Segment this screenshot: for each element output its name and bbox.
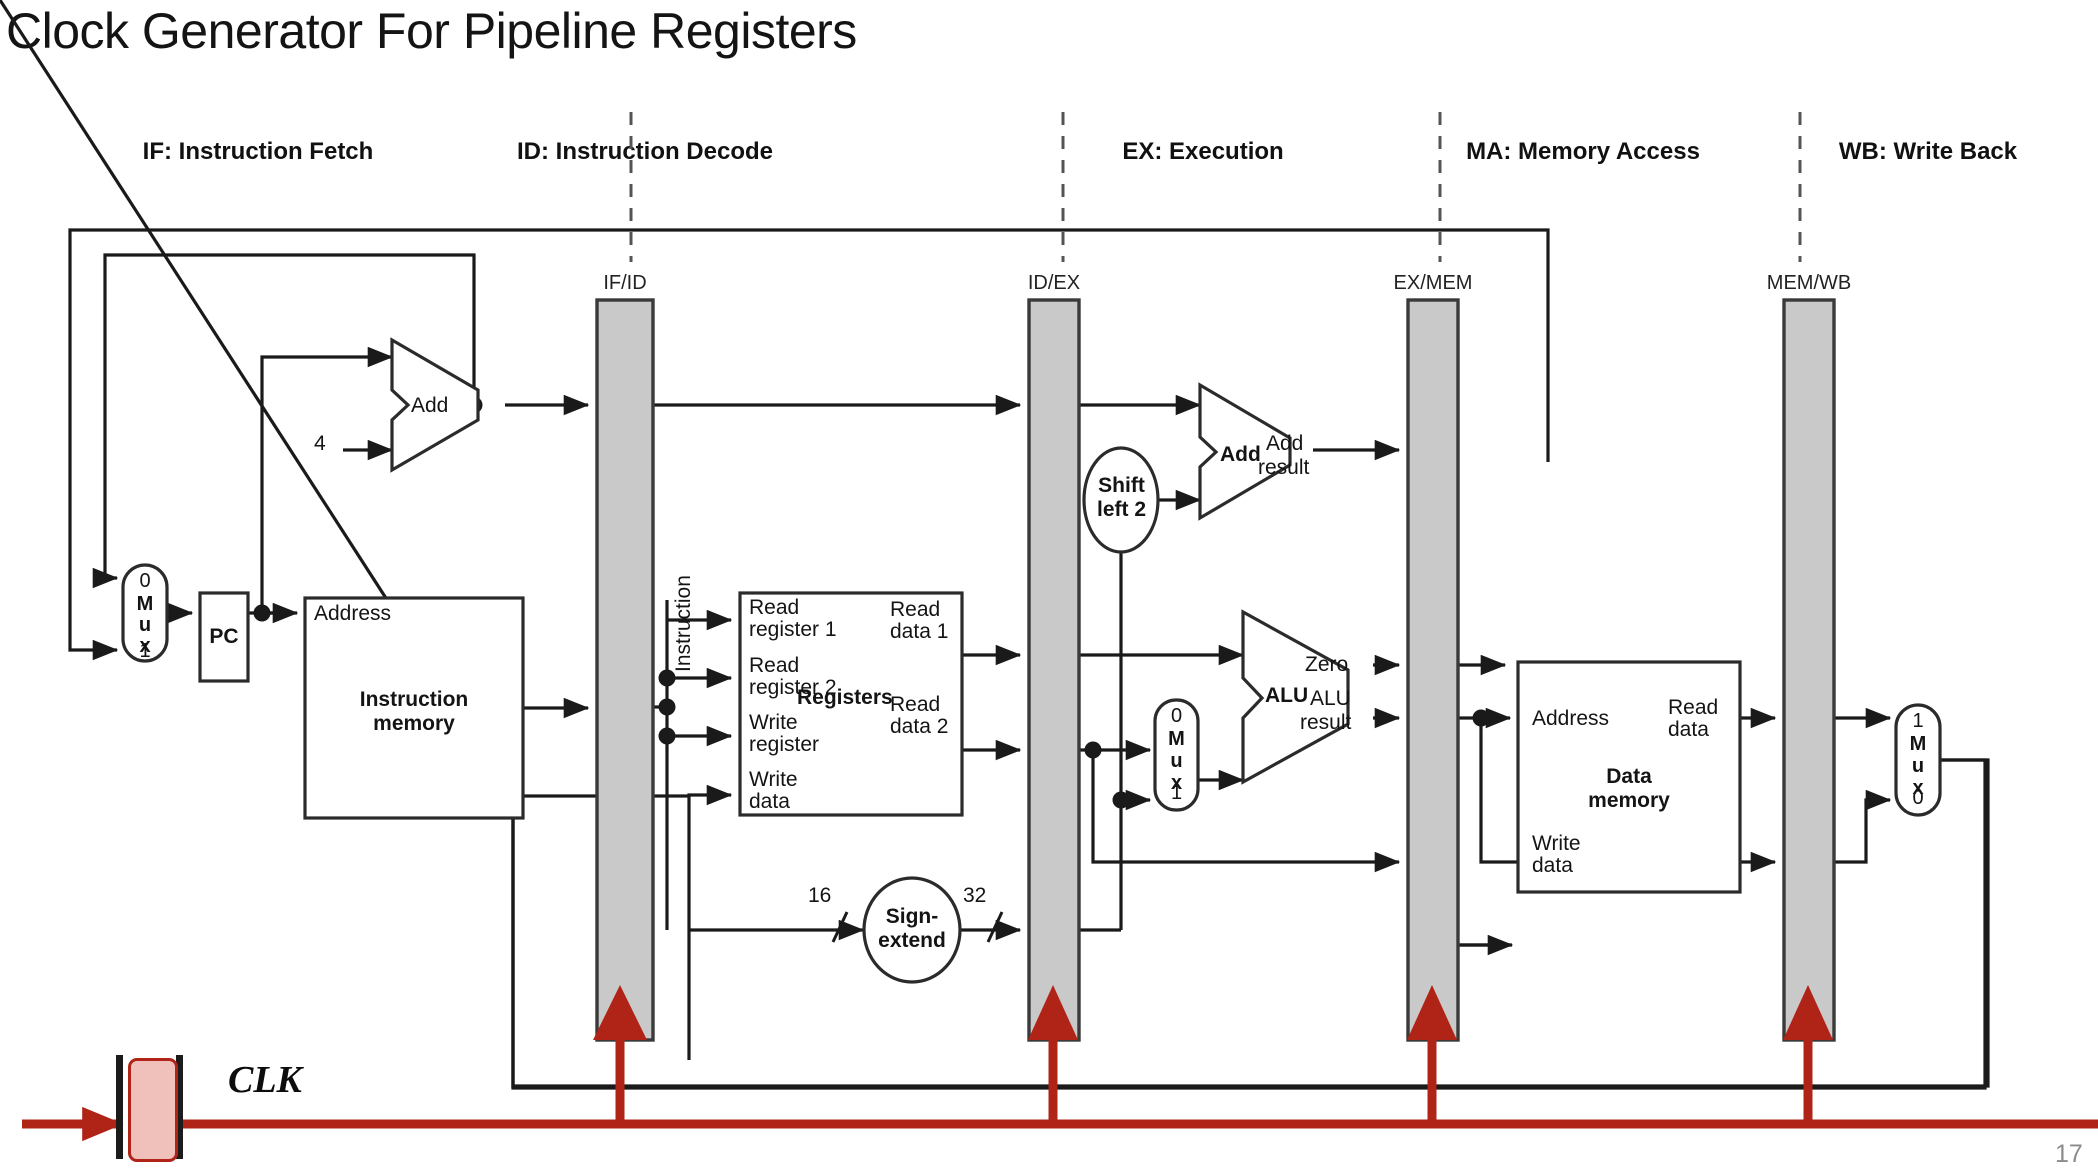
instruction-memory-title-line2: memory: [305, 712, 523, 736]
alu-add-ex-result-l2: result: [1258, 456, 1309, 480]
sign-extend-label-line1: Sign-: [864, 905, 960, 929]
alu-add-ex-result-l1: Add: [1266, 432, 1303, 456]
registers-read-data-2-l1: Read: [890, 693, 940, 717]
pc-label: PC: [200, 625, 248, 649]
pc-mux-letter-u: u: [123, 614, 167, 637]
registers-write-register-l2: register: [749, 733, 819, 757]
registers-write-data-l2: data: [749, 790, 790, 814]
sign-extend-label-line2: extend: [864, 929, 960, 953]
instruction-memory-title-line1: Instruction: [305, 688, 523, 712]
registers-write-register-l1: Write: [749, 711, 798, 735]
data-memory-read-data-l2: data: [1668, 718, 1709, 742]
data-memory-write-data-l2: data: [1532, 854, 1573, 878]
alu-src-mux-letter-u: u: [1155, 750, 1198, 773]
alu-src-mux-letter-m: M: [1155, 728, 1198, 751]
clock-feed-arrowhead: [593, 985, 1833, 1040]
instruction-bus-label: Instruction: [672, 575, 696, 672]
alu-add-ex-label: Add: [1220, 443, 1261, 467]
registers-read-data-1-l2: data 1: [890, 620, 948, 644]
clock-signal-label: CLK: [228, 1058, 302, 1102]
alu-zero-output-label: Zero: [1305, 653, 1348, 677]
alu-add-if-label: Add: [411, 394, 448, 418]
alu-result-output-l1: ALU: [1310, 687, 1351, 711]
registers-read-register-1-l1: Read: [749, 596, 799, 620]
shift-left-2-label-line1: Shift: [1084, 474, 1159, 498]
registers-read-data-2-l2: data 2: [890, 715, 948, 739]
alu-result-output-l2: result: [1300, 711, 1351, 735]
data-memory-read-data-l1: Read: [1668, 696, 1718, 720]
registers-read-register-1-l2: register 1: [749, 618, 837, 642]
data-memory-title-line1: Data: [1518, 765, 1740, 789]
pc-mux-select-top: 0: [123, 570, 167, 593]
wb-mux-letter-u: u: [1896, 755, 1940, 778]
alu-src-mux-select-top: 0: [1155, 705, 1198, 728]
pc-mux-select-bottom: 1: [123, 640, 167, 663]
alu-src-mux-select-bottom: 1: [1155, 782, 1198, 805]
instruction-memory-address-port: Address: [314, 602, 391, 626]
constant-four-label: 4: [314, 432, 326, 456]
registers-write-data-l1: Write: [749, 768, 798, 792]
data-memory-title-line2: memory: [1518, 789, 1740, 813]
pipeline-datapath-diagram: [0, 0, 2098, 1168]
wb-mux-select-top: 1: [1896, 710, 1940, 733]
clock-generator-left-bar: [116, 1055, 123, 1159]
registers-read-register-2-l1: Read: [749, 654, 799, 678]
registers-title: Registers: [797, 686, 893, 710]
page-number: 17: [2055, 1140, 2083, 1169]
registers-read-data-1-l1: Read: [890, 598, 940, 622]
bus-width-label-16: 16: [808, 884, 831, 908]
bus-width-label-32: 32: [963, 884, 986, 908]
data-memory-address-port: Address: [1532, 707, 1609, 731]
clock-generator-box[interactable]: [128, 1058, 178, 1162]
pc-mux-letter-m: M: [123, 593, 167, 616]
wb-mux-select-bottom: 0: [1896, 787, 1940, 810]
shift-left-2-label-line2: left 2: [1084, 498, 1159, 522]
wb-mux-letter-m: M: [1896, 733, 1940, 756]
alu-main-label: ALU: [1265, 684, 1308, 708]
data-memory-write-data-l1: Write: [1532, 832, 1581, 856]
stage-divider: [631, 112, 1800, 262]
